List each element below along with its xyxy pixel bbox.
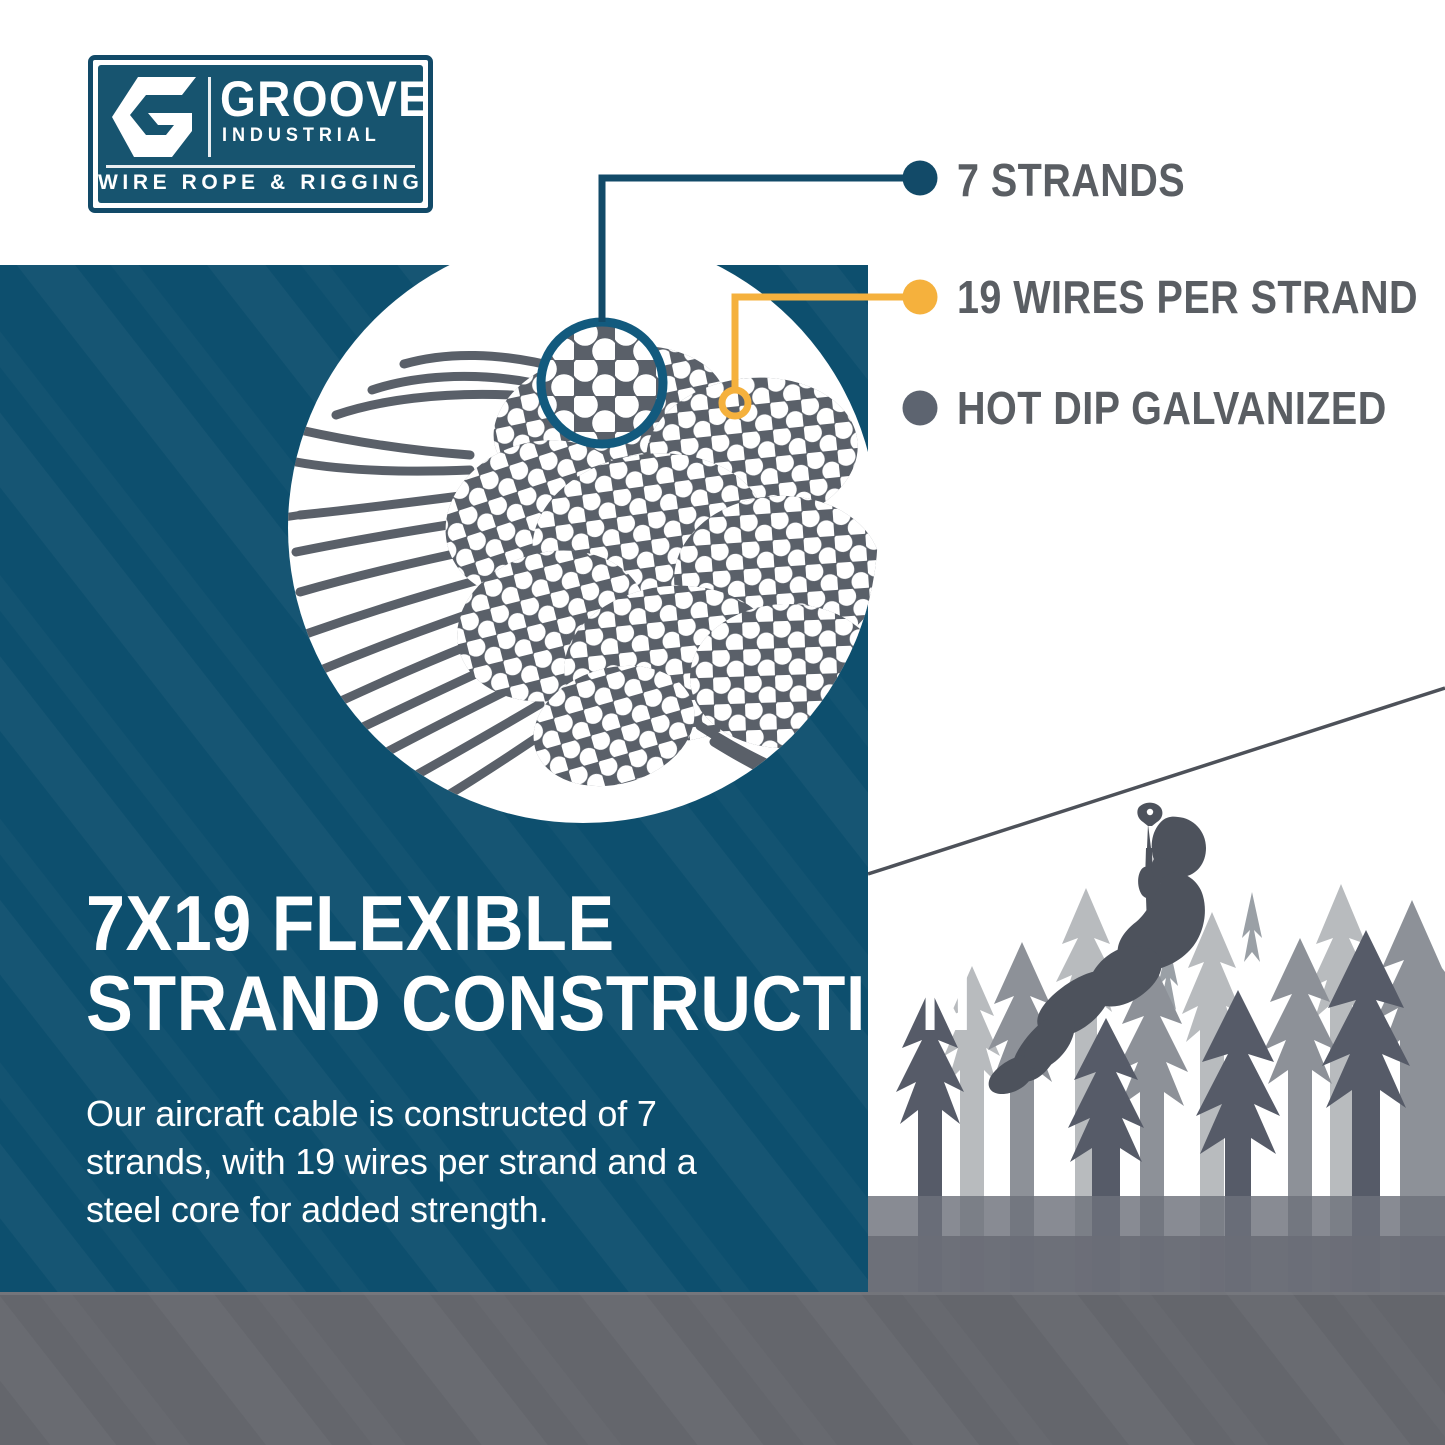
logo-plate: GROOVE INDUSTRIAL WIRE ROPE & RIGGING: [98, 65, 423, 203]
groove-g-monogram-icon: [104, 69, 204, 165]
logo-wordmark: GROOVE: [220, 73, 402, 125]
infographic-canvas: GROOVE INDUSTRIAL WIRE ROPE & RIGGING 7 …: [0, 0, 1445, 1445]
footer-band: [0, 1292, 1445, 1445]
headline-line-1: 7X19 FLEXIBLE: [86, 883, 770, 963]
page-title: 7X19 FLEXIBLE STRAND CONSTRUCTION: [86, 883, 770, 1043]
logo-divider: [208, 77, 211, 157]
brand-logo[interactable]: GROOVE INDUSTRIAL WIRE ROPE & RIGGING: [88, 55, 433, 213]
callout-label-strands: 7 STRANDS: [957, 153, 1185, 207]
headline-line-2: STRAND CONSTRUCTION: [86, 963, 770, 1043]
logo-tagline: WIRE ROPE & RIGGING: [98, 171, 423, 195]
logo-rule: [106, 165, 415, 168]
callout-label-galvanized: HOT DIP GALVANIZED: [957, 381, 1387, 435]
bullet-dot-galvanized: [903, 391, 938, 426]
logo-subword: INDUSTRIAL: [222, 125, 381, 147]
body-paragraph: Our aircraft cable is constructed of 7 s…: [86, 1090, 746, 1234]
callout-label-wires-per-strand: 19 WIRES PER STRAND: [957, 270, 1418, 324]
